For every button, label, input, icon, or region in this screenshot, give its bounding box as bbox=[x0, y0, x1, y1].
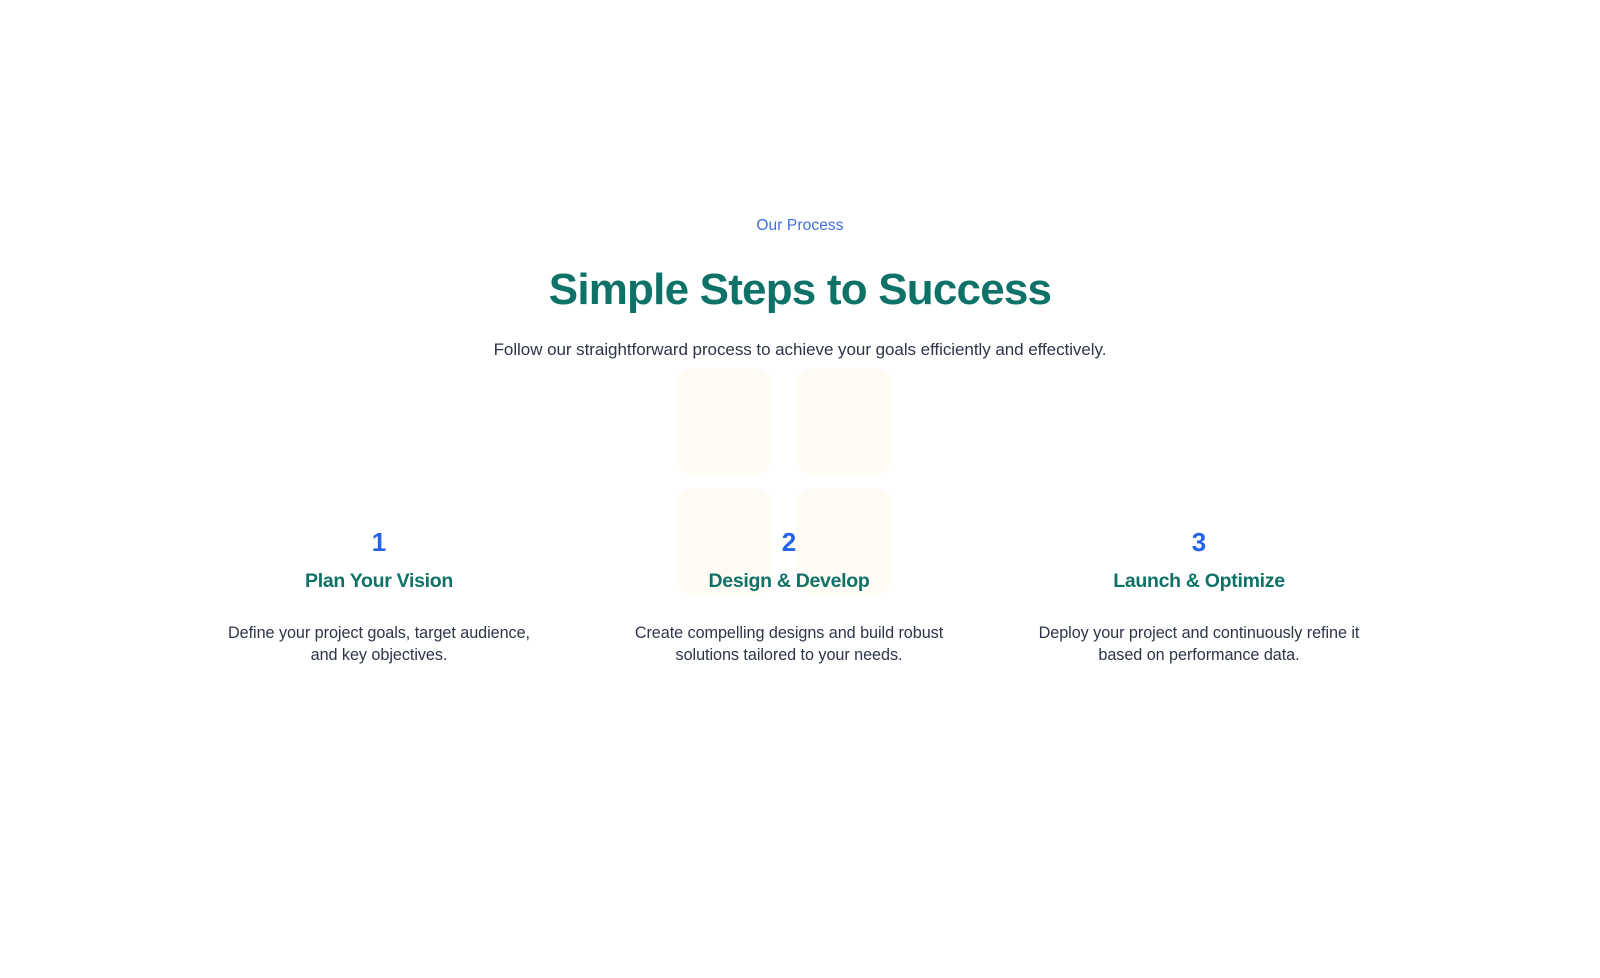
step-description: Define your project goals, target audien… bbox=[214, 623, 544, 666]
decor-tile-top-left bbox=[676, 368, 772, 476]
step-description: Deploy your project and continuously ref… bbox=[1034, 623, 1364, 666]
step-item-1: 1 Plan Your Vision Define your project g… bbox=[176, 525, 582, 666]
step-title: Launch & Optimize bbox=[996, 567, 1402, 595]
step-number: 2 bbox=[586, 525, 992, 559]
step-number: 3 bbox=[996, 525, 1402, 559]
steps-list: 1 Plan Your Vision Define your project g… bbox=[176, 525, 1402, 666]
step-item-2: 2 Design & Develop Create compelling des… bbox=[586, 525, 992, 666]
step-description: Create compelling designs and build robu… bbox=[624, 623, 954, 666]
process-section: Our Process Simple Steps to Success Foll… bbox=[0, 0, 1600, 978]
step-title: Design & Develop bbox=[586, 567, 992, 595]
section-subtitle: Follow our straightforward process to ac… bbox=[0, 338, 1600, 362]
step-title: Plan Your Vision bbox=[176, 567, 582, 595]
page-title: Simple Steps to Success bbox=[0, 264, 1600, 316]
step-item-3: 3 Launch & Optimize Deploy your project … bbox=[996, 525, 1402, 666]
decor-tile-top-right bbox=[796, 368, 892, 476]
section-eyebrow: Our Process bbox=[0, 216, 1600, 236]
step-number: 1 bbox=[176, 525, 582, 559]
